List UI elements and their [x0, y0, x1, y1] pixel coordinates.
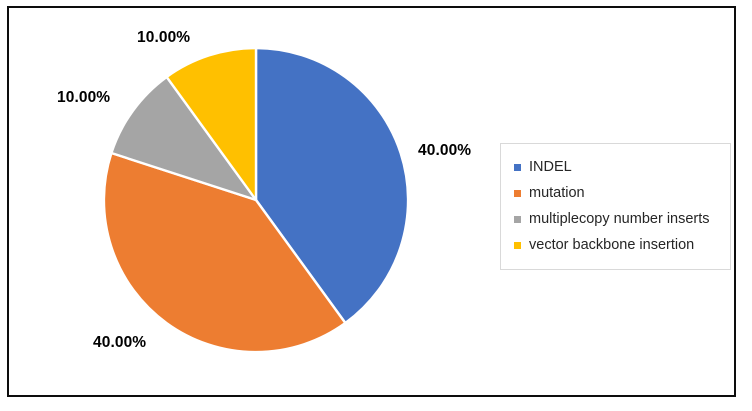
legend-label-multiplecopy-number-inserts: multiplecopy number inserts	[529, 212, 710, 227]
legend-item-mutation[interactable]: mutation	[509, 180, 722, 206]
legend-item-indel[interactable]: INDEL	[509, 154, 722, 180]
legend-swatch-mutation	[514, 190, 521, 197]
pie-chart-figure: 40.00% 40.00% 10.00% 10.00% INDEL mutati…	[0, 0, 752, 411]
legend-item-vector-backbone-insertion[interactable]: vector backbone insertion	[509, 232, 722, 258]
chart-legend: INDEL mutation multiplecopy number inser…	[500, 143, 731, 270]
data-label-vector-backbone-insertion: 10.00%	[137, 29, 190, 47]
legend-item-multiplecopy-number-inserts[interactable]: multiplecopy number inserts	[509, 206, 722, 232]
legend-label-vector-backbone-insertion: vector backbone insertion	[529, 238, 694, 253]
legend-swatch-indel	[514, 164, 521, 171]
data-label-multiplecopy-number-inserts: 10.00%	[57, 89, 110, 107]
data-label-mutation: 40.00%	[93, 334, 146, 352]
data-label-indel: 40.00%	[418, 142, 471, 160]
legend-label-indel: INDEL	[529, 160, 572, 175]
legend-swatch-multiplecopy-number-inserts	[514, 216, 521, 223]
legend-label-mutation: mutation	[529, 186, 585, 201]
legend-swatch-vector-backbone-insertion	[514, 242, 521, 249]
